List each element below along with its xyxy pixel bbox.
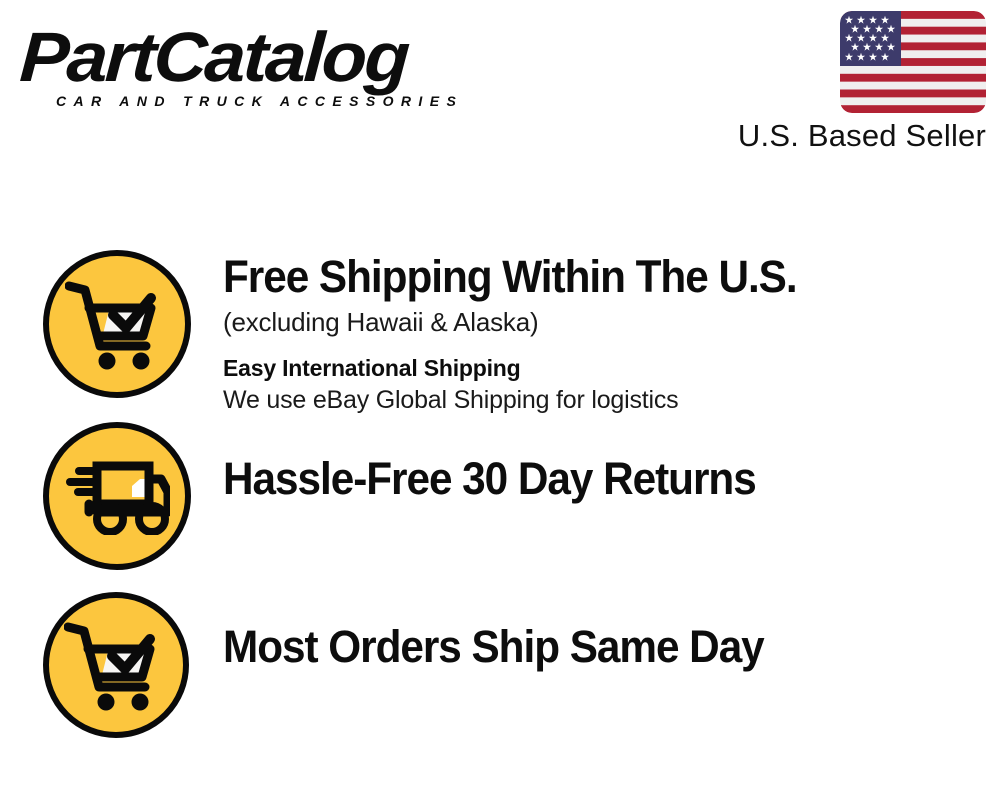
brand-tagline: CAR AND TRUCK ACCESSORIES [56,94,463,108]
feature-text-block: Free Shipping Within The U.S. (excluding… [223,250,983,417]
feature-text-block: Most Orders Ship Same Day [223,620,983,674]
shopping-cart-check-icon [43,250,191,398]
feature-headline: Free Shipping Within The U.S. [223,250,937,304]
feature-row: Free Shipping Within The U.S. (excluding… [0,250,1000,424]
brand-wordmark: PartCatalog [18,22,520,92]
feature-subtext: We use eBay Global Shipping for logistic… [223,384,983,417]
shopping-cart-check-icon [43,592,189,738]
us-flag-icon [840,11,986,113]
feature-headline: Hassle-Free 30 Day Returns [223,452,937,506]
feature-note: (excluding Hawaii & Alaska) [223,305,983,339]
page-header: PartCatalog CAR AND TRUCK ACCESSORIES [0,0,1000,175]
feature-row: Hassle-Free 30 Day Returns [0,422,1000,592]
us-based-seller-label: U.S. Based Seller [738,116,986,156]
feature-headline: Most Orders Ship Same Day [223,620,937,674]
feature-text-block: Hassle-Free 30 Day Returns [223,452,983,506]
delivery-truck-icon [43,422,191,570]
feature-subheading: Easy International Shipping [223,353,983,383]
brand-logo[interactable]: PartCatalog CAR AND TRUCK ACCESSORIES [22,22,492,117]
feature-row: Most Orders Ship Same Day [0,592,1000,762]
